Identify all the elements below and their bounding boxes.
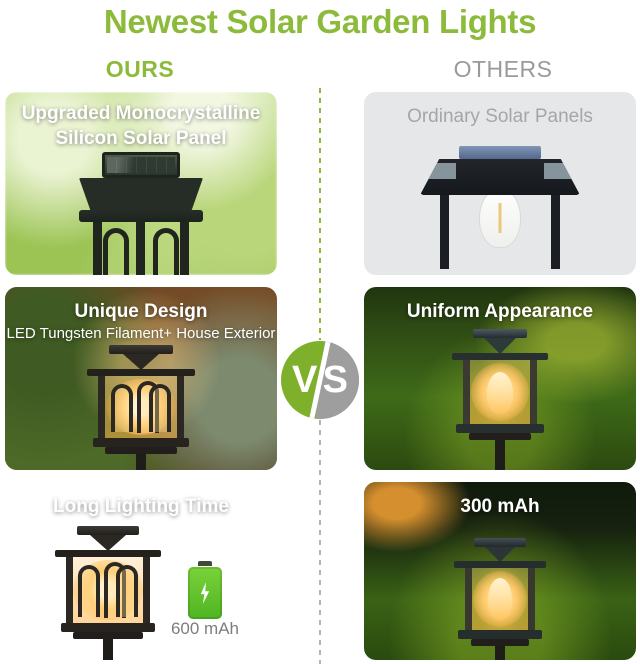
ordinary-lamp-head-artwork [420,146,580,269]
panel-title-others-2: Uniform Appearance [364,299,636,324]
column-header-others: OTHERS [368,54,638,84]
house-lantern-artwork-2 [55,526,161,660]
house-lantern-artwork [87,345,195,470]
panel-others-capacity: 300 mAh [364,482,636,660]
battery-capacity-badge: 600 mAh [150,545,260,655]
panel-title-ours-3: Long Lighting Time [5,494,277,519]
column-header-ours: OURS [5,54,275,84]
panel-others-solar-panel: Ordinary Solar Panels [364,92,636,275]
solar-lamp-head-artwork [79,152,203,275]
ordinary-lantern-artwork-2 [454,538,546,660]
panel-ours-solar-panel: Upgraded Monocrystalline Silicon Solar P… [5,92,277,275]
panel-ours-unique-design: Unique Design LED Tungsten Filament+ Hou… [5,287,277,470]
page-title: Newest Solar Garden Lights [0,2,640,42]
panel-title-ours-2: Unique Design [5,299,277,324]
battery-icon [188,561,222,619]
panel-title-others-3: 300 mAh [364,494,636,519]
versus-badge: V S [281,341,359,419]
panel-title-ours-1: Upgraded Monocrystalline Silicon Solar P… [5,101,277,151]
versus-letter-s: S [323,361,348,399]
divider-dashed-bottom [319,420,321,664]
panel-title-others-1: Ordinary Solar Panels [364,104,636,129]
versus-letter-v: V [292,361,317,399]
panel-subtitle-ours-2: LED Tungsten Filament+ House Exterior [5,324,277,344]
divider-dashed-top [319,88,321,340]
lightning-bolt-icon [199,582,212,604]
ordinary-lantern-artwork [452,329,548,470]
battery-capacity-label: 600 mAh [150,619,260,639]
panel-others-uniform-appearance: Uniform Appearance [364,287,636,470]
